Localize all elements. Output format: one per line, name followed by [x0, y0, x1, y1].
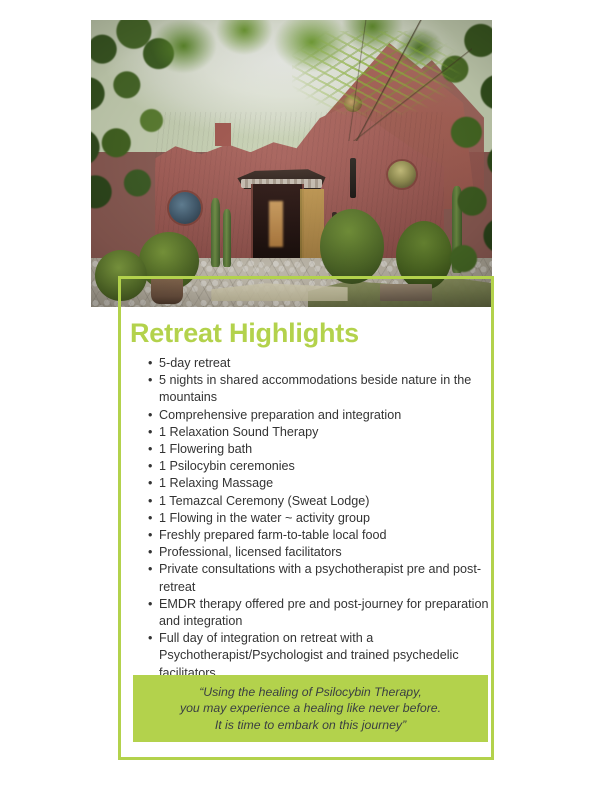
list-item: Freshly prepared farm-to-table local foo…: [159, 527, 511, 544]
list-item: 1 Psilocybin ceremonies: [159, 458, 511, 475]
list-item: Professional, licensed facilitators: [159, 544, 511, 561]
list-item: 1 Relaxation Sound Therapy: [159, 424, 511, 441]
quote-banner: “Using the healing of Psilocybin Therapy…: [133, 675, 488, 742]
list-item: 5-day retreat: [159, 355, 511, 372]
list-item: Comprehensive preparation and integratio…: [159, 407, 511, 424]
list-item: 5 nights in shared accommodations beside…: [159, 372, 511, 406]
photo-illustration: [91, 20, 492, 307]
page-title: Retreat Highlights: [130, 318, 359, 349]
highlights-list: 5-day retreat 5 nights in shared accommo…: [143, 355, 511, 682]
list-item: Private consultations with a psychothera…: [159, 561, 511, 595]
photo-vignette: [91, 20, 492, 307]
list-item: 1 Relaxing Massage: [159, 475, 511, 492]
retreat-photo: [91, 20, 492, 307]
quote-text: “Using the healing of Psilocybin Therapy…: [172, 684, 449, 733]
list-item: 1 Temazcal Ceremony (Sweat Lodge): [159, 493, 511, 510]
highlights-card: Retreat Highlights 5-day retreat 5 night…: [118, 307, 494, 760]
list-item: EMDR therapy offered pre and post-journe…: [159, 596, 511, 630]
list-item: 1 Flowering bath: [159, 441, 511, 458]
list-item: 1 Flowing in the water ~ activity group: [159, 510, 511, 527]
